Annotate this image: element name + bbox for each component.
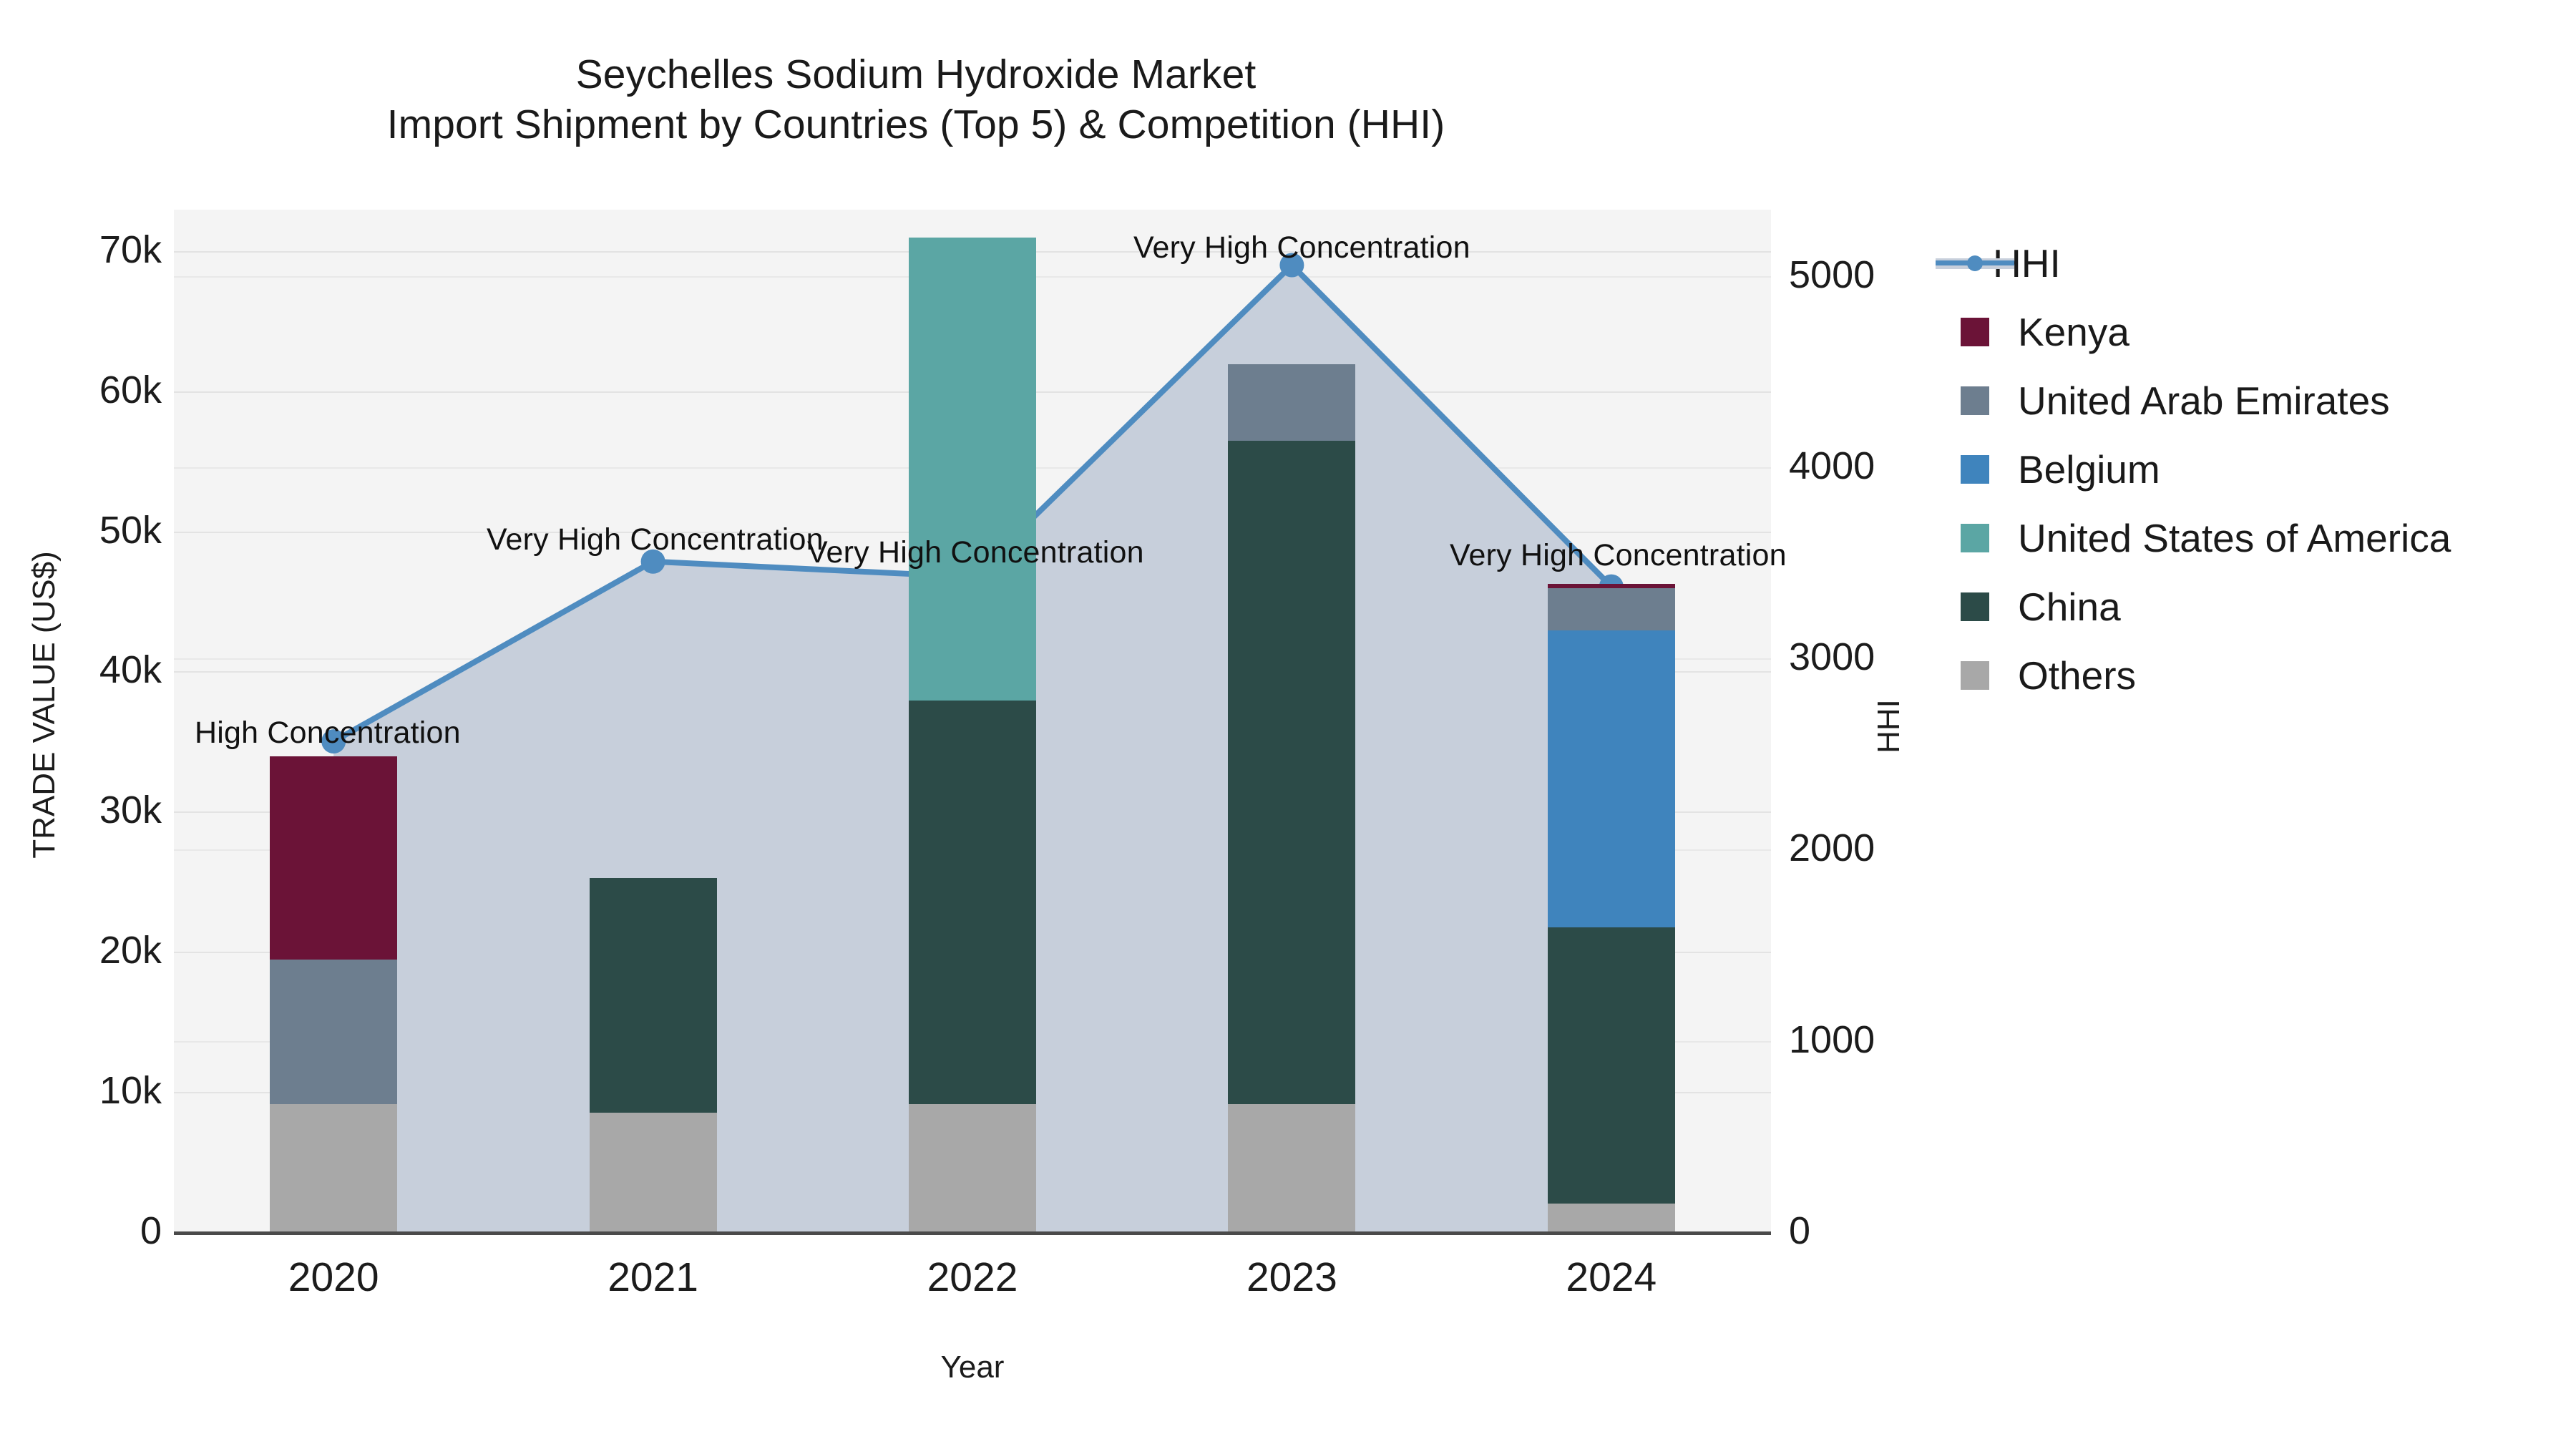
bar-segment-united-arab-emirates-2023[interactable] (1228, 364, 1355, 441)
legend-item-others[interactable]: Others (1961, 641, 2555, 710)
y-tick-left-40k: 40k (99, 648, 162, 692)
legend-label: China (2018, 587, 2121, 627)
bar-segment-china-2024[interactable] (1548, 927, 1675, 1204)
legend-item-hhi[interactable]: HHI (1961, 229, 2555, 298)
chart-title-line-1: Seychelles Sodium Hydroxide Market (0, 50, 1832, 100)
y-tick-right-1000: 1000 (1789, 1018, 1875, 1062)
annotation-2020: High Concentration (195, 716, 461, 751)
y-tick-right-4000: 4000 (1789, 444, 1875, 488)
y-tick-left-10k: 10k (99, 1068, 162, 1113)
legend-label: Kenya (2018, 313, 2129, 352)
y-tick-right-0: 0 (1789, 1209, 1810, 1253)
legend-line-marker-icon (1936, 249, 2014, 278)
bar-segment-china-2023[interactable] (1228, 441, 1355, 1104)
y-tick-left-50k: 50k (99, 508, 162, 552)
y-axis-left-title: TRADE VALUE (US$) (26, 476, 62, 934)
bar-stack-2023[interactable] (1228, 210, 1355, 1233)
bar-segment-china-2022[interactable] (909, 701, 1036, 1104)
annotation-2023: Very High Concentration (1133, 230, 1470, 265)
chart-canvas: Seychelles Sodium Hydroxide Market Impor… (0, 0, 2576, 1449)
bar-segment-others-2020[interactable] (270, 1104, 397, 1233)
bar-stack-2022[interactable] (909, 210, 1036, 1233)
legend-item-united-states-of-america[interactable]: United States of America (1961, 504, 2555, 572)
x-axis-title: Year (174, 1350, 1771, 1385)
legend-item-china[interactable]: China (1961, 572, 2555, 641)
bar-segment-others-2023[interactable] (1228, 1104, 1355, 1233)
y-tick-left-30k: 30k (99, 788, 162, 832)
bar-stack-2024[interactable] (1548, 210, 1675, 1233)
y-tick-left-60k: 60k (99, 368, 162, 412)
chart-title: Seychelles Sodium Hydroxide Market Impor… (0, 50, 1832, 150)
y-tick-left-70k: 70k (99, 228, 162, 272)
legend-swatch-icon (1961, 661, 1989, 690)
legend-label: United States of America (2018, 519, 2451, 558)
y-axis-right-title: HHI (1871, 612, 1907, 841)
legend-swatch-icon (1961, 455, 1989, 484)
legend-label: Others (2018, 656, 2136, 696)
x-tick-2021: 2021 (546, 1254, 761, 1301)
bar-segment-kenya-2020[interactable] (270, 756, 397, 960)
bar-segment-others-2021[interactable] (590, 1113, 717, 1233)
bar-stack-2021[interactable] (590, 210, 717, 1233)
legend-swatch-icon (1961, 386, 1989, 415)
x-tick-2022: 2022 (865, 1254, 1080, 1301)
y-tick-left-20k: 20k (99, 928, 162, 972)
x-tick-2023: 2023 (1184, 1254, 1399, 1301)
x-tick-2020: 2020 (226, 1254, 441, 1301)
legend-label: Belgium (2018, 450, 2160, 489)
y-tick-left-0: 0 (140, 1209, 162, 1253)
legend-swatch-icon (1961, 524, 1989, 552)
x-axis-line (174, 1231, 1771, 1235)
chart-title-subtitle: Import Shipment by Countries (Top 5) & C… (0, 100, 1832, 150)
bar-segment-china-2021[interactable] (590, 878, 717, 1112)
x-tick-2024: 2024 (1504, 1254, 1719, 1301)
y-axis-left-ticks: 010k20k30k40k50k60k70k (0, 0, 163, 1449)
bar-segment-kenya-2024[interactable] (1548, 584, 1675, 588)
legend: HHIKenyaUnited Arab EmiratesBelgiumUnite… (1961, 229, 2555, 710)
bar-segment-belgium-2024[interactable] (1548, 630, 1675, 927)
legend-item-united-arab-emirates[interactable]: United Arab Emirates (1961, 366, 2555, 435)
annotation-2021: Very High Concentration (487, 522, 824, 557)
annotation-2024: Very High Concentration (1450, 538, 1787, 573)
y-tick-right-5000: 5000 (1789, 253, 1875, 297)
legend-label: United Arab Emirates (2018, 381, 2390, 421)
legend-swatch-icon (1961, 318, 1989, 346)
bar-segment-others-2022[interactable] (909, 1104, 1036, 1233)
y-tick-right-2000: 2000 (1789, 826, 1875, 870)
bar-segment-united-states-of-america-2022[interactable] (909, 238, 1036, 700)
y-tick-right-3000: 3000 (1789, 635, 1875, 679)
bar-segment-united-arab-emirates-2024[interactable] (1548, 588, 1675, 630)
bar-segment-united-arab-emirates-2020[interactable] (270, 960, 397, 1104)
legend-item-belgium[interactable]: Belgium (1961, 435, 2555, 504)
annotation-2022: Very High Concentration (807, 535, 1144, 570)
bar-segment-others-2024[interactable] (1548, 1204, 1675, 1233)
legend-item-kenya[interactable]: Kenya (1961, 298, 2555, 366)
legend-swatch-icon (1961, 592, 1989, 621)
